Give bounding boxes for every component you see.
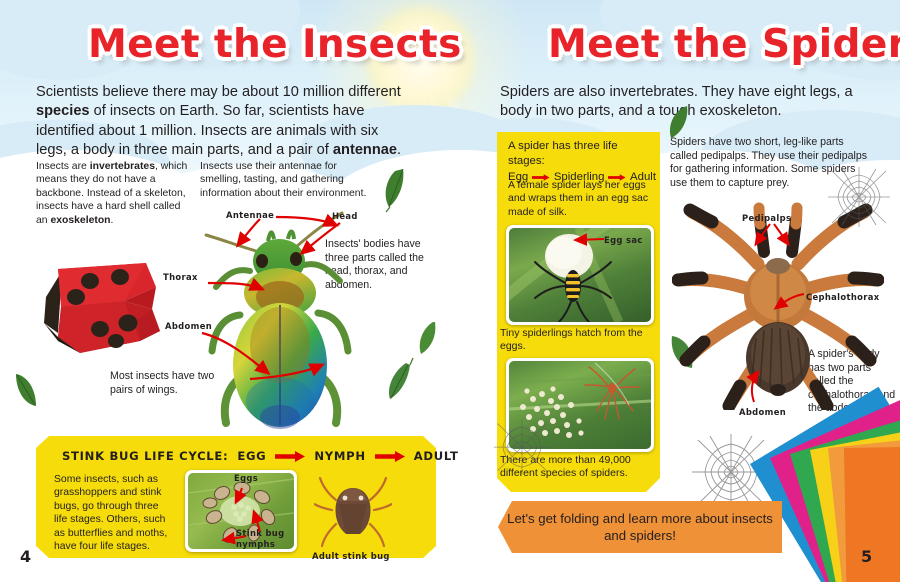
label-abdomen: Abdomen: [165, 321, 212, 331]
origami-ladybug-illustration: [28, 245, 176, 365]
spider-web-icon: [492, 418, 552, 478]
label-eggs: Eggs: [234, 473, 258, 483]
spiderlings-hatch-text: Tiny spiderlings hatch from the eggs.: [500, 327, 650, 354]
stink-bug-body-text: Some insects, such as grasshoppers and s…: [54, 473, 174, 553]
stage-nymph: NYMPH: [314, 449, 365, 463]
label-adult-stink-bug: Adult stink bug: [312, 551, 390, 561]
label-egg-sac: Egg sac: [604, 235, 643, 245]
page-title-right: Meet the Spiders: [548, 22, 900, 67]
stink-bug-life-cycle-header: STINK BUG LIFE CYCLE: EGG NYMPH ADULT: [62, 449, 459, 463]
label-thorax: Thorax: [163, 272, 198, 282]
leaf-icon: [381, 165, 407, 213]
beetle-illustration: [200, 205, 360, 435]
arrow-right-icon: [375, 451, 405, 462]
text-invertebrates: Insects are invertebrates, which means t…: [36, 160, 188, 227]
call-to-action-text: Let's get folding and learn more about i…: [498, 501, 782, 553]
label-cephalothorax: Cephalothorax: [806, 292, 880, 302]
stage-egg: EGG: [237, 449, 266, 463]
stink-header-prefix: STINK BUG LIFE CYCLE:: [62, 449, 228, 463]
adult-stink-bug-illustration: [314, 476, 392, 548]
page-title-left: Meet the Insects: [88, 22, 462, 67]
label-abdomen: Abdomen: [739, 407, 786, 417]
spider-web-icon: [826, 165, 892, 231]
leaf-icon: [415, 318, 439, 358]
life-stages-intro: A spider has three life stages:: [508, 139, 656, 170]
stage-adult: ADULT: [414, 449, 459, 463]
leaf-icon: [384, 355, 414, 403]
label-pedipalps: Pedipalps: [742, 213, 791, 223]
egg-sac-description: A female spider lays her eggs and wraps …: [508, 179, 658, 219]
page-number-right: 5: [861, 547, 872, 566]
arrow-right-icon: [275, 451, 305, 462]
label-stink-bug-nymphs: Stink bug nymphs: [236, 528, 294, 550]
book-spread: Meet the Insects Meet the Spiders Scient…: [0, 0, 900, 582]
text-antennae-use: Insects use their antennae for smelling,…: [200, 160, 375, 200]
intro-paragraph-left: Scientists believe there may be about 10…: [36, 83, 408, 160]
label-antennae: Antennae: [226, 210, 274, 220]
page-number-left: 4: [20, 547, 31, 566]
leaf-icon: [12, 368, 40, 412]
label-head: Head: [332, 211, 358, 221]
